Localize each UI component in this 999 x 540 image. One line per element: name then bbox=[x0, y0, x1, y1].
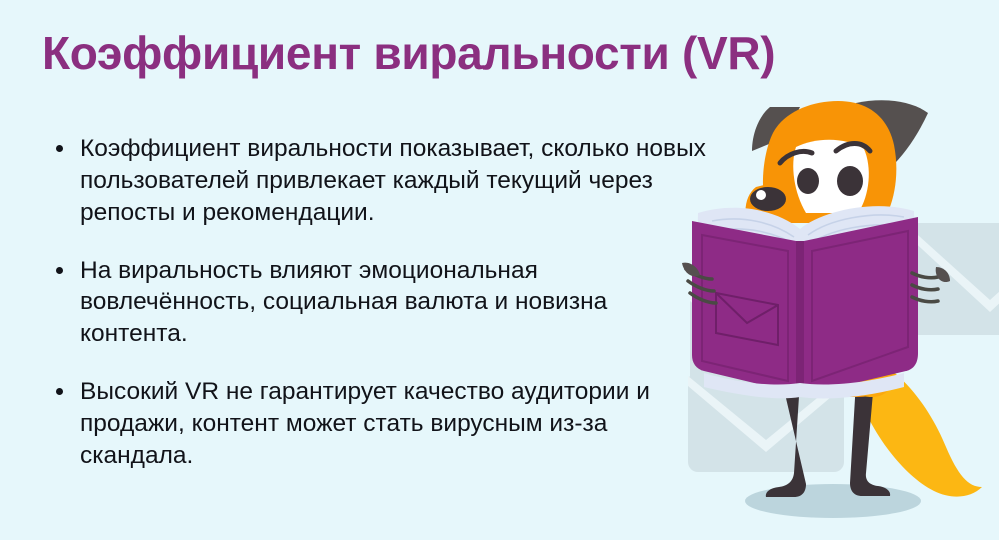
fox-paw-right-pad bbox=[936, 267, 950, 282]
book-cover-right bbox=[804, 217, 918, 395]
fox-eye-right bbox=[837, 166, 863, 196]
book-spine bbox=[796, 241, 804, 395]
fox-nose bbox=[750, 187, 786, 211]
list-item: Коэффициент виральности показывает, скол… bbox=[46, 133, 706, 229]
book-cover-left bbox=[692, 221, 796, 393]
fox-nose-highlight bbox=[756, 190, 766, 200]
page-title: Коэффициент виральности (VR) bbox=[42, 28, 842, 79]
bullet-dot-icon bbox=[56, 145, 63, 152]
list-item-text: Высокий VR не гарантирует качество аудит… bbox=[80, 378, 650, 469]
fox-head bbox=[745, 100, 928, 223]
bullet-dot-icon bbox=[56, 388, 63, 395]
fox-eye-left bbox=[797, 168, 819, 194]
bullet-dot-icon bbox=[56, 267, 63, 274]
fox-leg-front bbox=[766, 381, 806, 497]
list-item-text: На виральность влияют эмоциональная вовл… bbox=[80, 257, 607, 348]
list-item: Высокий VR не гарантирует качество аудит… bbox=[46, 376, 706, 472]
bullet-list: Коэффициент виральности показывает, скол… bbox=[46, 133, 706, 472]
list-item: На виральность влияют эмоциональная вовл… bbox=[46, 255, 706, 351]
fox-reading-book-illustration bbox=[660, 95, 999, 540]
list-item-text: Коэффициент виральности показывает, скол… bbox=[80, 135, 706, 226]
slide-root: Коэффициент виральности (VR) Коэффициент… bbox=[0, 0, 999, 540]
